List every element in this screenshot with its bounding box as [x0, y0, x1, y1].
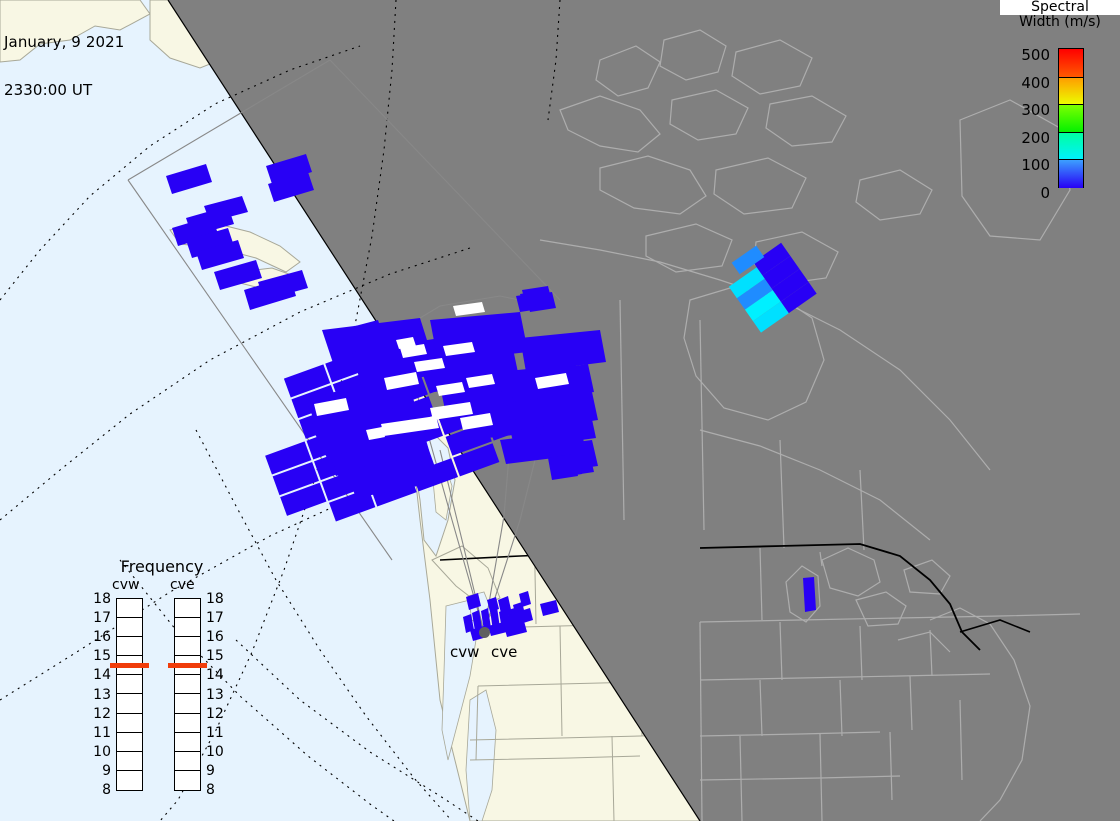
- radar-site-label-cve: cve: [491, 645, 517, 660]
- frequency-marker-cve: [168, 663, 207, 668]
- frequency-column-label-cve: cve: [170, 578, 195, 593]
- colorbar-tick-400: 400: [1021, 76, 1050, 91]
- frequency-tick-left-14: 14: [93, 668, 111, 682]
- date-label: January, 9 2021: [4, 34, 124, 50]
- colorbar-band-200-300: [1059, 104, 1083, 133]
- frequency-segment: [117, 618, 142, 637]
- frequency-segment: [175, 618, 200, 637]
- frequency-segment: [175, 675, 200, 694]
- datetime-stamp: January, 9 2021 2330:00 UT: [4, 2, 124, 130]
- frequency-segment: [117, 771, 142, 790]
- frequency-tick-right-9: 9: [206, 764, 215, 778]
- frequency-segment: [117, 733, 142, 752]
- frequency-tick-left-16: 16: [93, 630, 111, 644]
- colorbar-band-400-500: [1059, 49, 1083, 77]
- frequency-tick-right-11: 11: [206, 726, 224, 740]
- colorbar-band-0-100: [1059, 159, 1083, 188]
- frequency-segment: [175, 695, 200, 714]
- frequency-segment: [117, 675, 142, 694]
- colorbar-tick-100: 100: [1021, 158, 1050, 173]
- frequency-tick-left-10: 10: [93, 745, 111, 759]
- frequency-segment: [175, 733, 200, 752]
- frequency-legend-title: Frequency: [82, 558, 242, 575]
- frequency-tick-left-18: 18: [93, 592, 111, 606]
- frequency-tick-right-16: 16: [206, 630, 224, 644]
- frequency-tick-right-13: 13: [206, 688, 224, 702]
- frequency-tick-right-15: 15: [206, 649, 224, 663]
- frequency-tick-right-14: 14: [206, 668, 224, 682]
- colorbar-tick-300: 300: [1021, 103, 1050, 118]
- frequency-segment: [175, 771, 200, 790]
- frequency-tick-left-15: 15: [93, 649, 111, 663]
- cell-group-near-range: [463, 591, 559, 641]
- frequency-tick-left-17: 17: [93, 611, 111, 625]
- radar-map-screenshot: January, 9 2021 2330:00 UT Spectral Widt…: [0, 0, 1120, 821]
- frequency-bar-cvw: [116, 598, 143, 791]
- frequency-tick-left-11: 11: [93, 726, 111, 740]
- frequency-tick-left-13: 13: [93, 688, 111, 702]
- frequency-segment: [117, 695, 142, 714]
- frequency-segment: [117, 714, 142, 733]
- radar-site-label-cvw: cvw: [450, 645, 479, 660]
- frequency-column-label-cvw: cvw: [112, 578, 139, 593]
- time-label: 2330:00 UT: [4, 82, 124, 98]
- colorbar-tick-200: 200: [1021, 131, 1050, 146]
- cell-group-ne-canada: [719, 233, 817, 333]
- frequency-legend: Frequency cvw cve 1818171716161515141413…: [82, 558, 242, 788]
- frequency-marker-cvw: [110, 663, 149, 668]
- colorbar-title: Spectral Width (m/s): [1000, 0, 1120, 30]
- frequency-segment: [175, 714, 200, 733]
- radar-site-marker: [479, 627, 490, 638]
- cell-group-alaska-beams: [166, 154, 384, 348]
- cell-great-lakes: [803, 577, 816, 612]
- frequency-tick-right-18: 18: [206, 592, 224, 606]
- colorbar-tick-0: 0: [1040, 186, 1050, 201]
- spectral-width-colorbar: Spectral Width (m/s) 5004003002001000: [1000, 0, 1120, 200]
- frequency-tick-left-12: 12: [93, 707, 111, 721]
- colorbar-tick-500: 500: [1021, 48, 1050, 63]
- frequency-segment: [175, 637, 200, 656]
- frequency-tick-right-8: 8: [206, 783, 215, 797]
- frequency-tick-right-17: 17: [206, 611, 224, 625]
- colorbar-title-line2: Width (m/s): [1000, 15, 1120, 30]
- frequency-tick-left-8: 8: [102, 783, 111, 797]
- frequency-tick-right-12: 12: [206, 707, 224, 721]
- colorbar-band-300-400: [1059, 77, 1083, 106]
- frequency-segment: [175, 752, 200, 771]
- colorbar-title-line1: Spectral: [1000, 0, 1120, 15]
- frequency-tick-right-10: 10: [206, 745, 224, 759]
- colorbar-gradient: [1058, 48, 1084, 188]
- colorbar-ticks: 5004003002001000: [1000, 40, 1054, 190]
- frequency-segment: [175, 599, 200, 618]
- frequency-bar-cve: [174, 598, 201, 791]
- colorbar-band-100-200: [1059, 132, 1083, 161]
- frequency-tick-left-9: 9: [102, 764, 111, 778]
- frequency-segment: [117, 752, 142, 771]
- frequency-segment: [117, 599, 142, 618]
- frequency-segment: [117, 637, 142, 656]
